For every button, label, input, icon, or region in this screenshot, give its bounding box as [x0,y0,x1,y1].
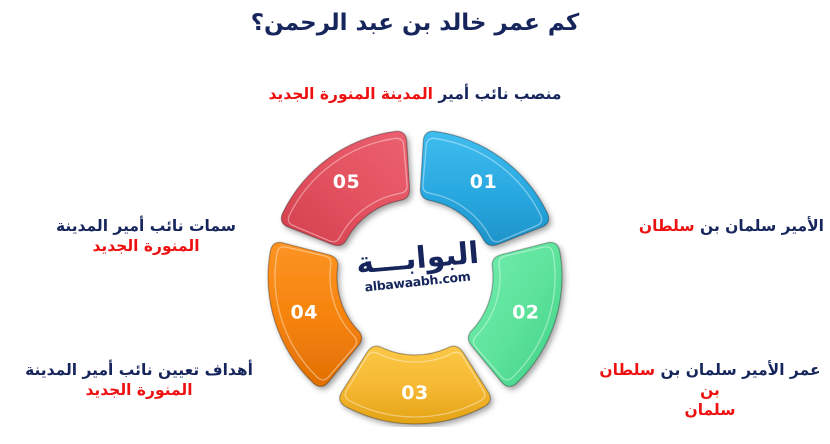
segment-label-01-highlight: المدينة المنورة الجديد [268,85,433,103]
segment-label-04: أهداف تعيين نائب أمير المدينة المنورة ال… [8,360,270,400]
segment-number-03: 03 [401,382,428,404]
segment-label-04-highlight: المنورة الجديد [85,381,192,399]
segment-label-05-highlight: المنورة الجديد [92,237,199,255]
segment-label-03: عمر الأمير سلمان بن سلطان بن سلمان [596,360,824,420]
page-title: كم عمر خالد بن عبد الرحمن؟ [0,8,830,38]
segment-label-04-base: أهداف تعيين نائب أمير المدينة [25,361,253,379]
segment-label-02-highlight: سلطان [639,217,695,235]
segment-label-05: سمات نائب أمير المدينة المنورة الجديد [22,216,270,256]
segment-label-05-base: سمات نائب أمير المدينة [56,217,236,235]
segment-number-04: 04 [290,302,317,324]
segment-label-03-base: عمر الأمير سلمان بن [655,361,820,379]
donut-chart: 0102030405 [250,127,580,427]
infographic-canvas: كم عمر خالد بن عبد الرحمن؟ منصب نائب أمي… [0,0,830,444]
segment-label-01: منصب نائب أمير المدينة المنورة الجديد [0,84,830,104]
segment-label-02: الأمير سلمان بن سلطان [600,216,824,236]
segment-number-05: 05 [333,171,360,193]
segment-label-02-base: الأمير سلمان بن [695,217,824,235]
donut-segments [268,131,562,424]
segment-number-02: 02 [512,302,539,324]
segment-label-01-base: منصب نائب أمير [433,85,562,103]
segment-number-01: 01 [470,171,497,193]
